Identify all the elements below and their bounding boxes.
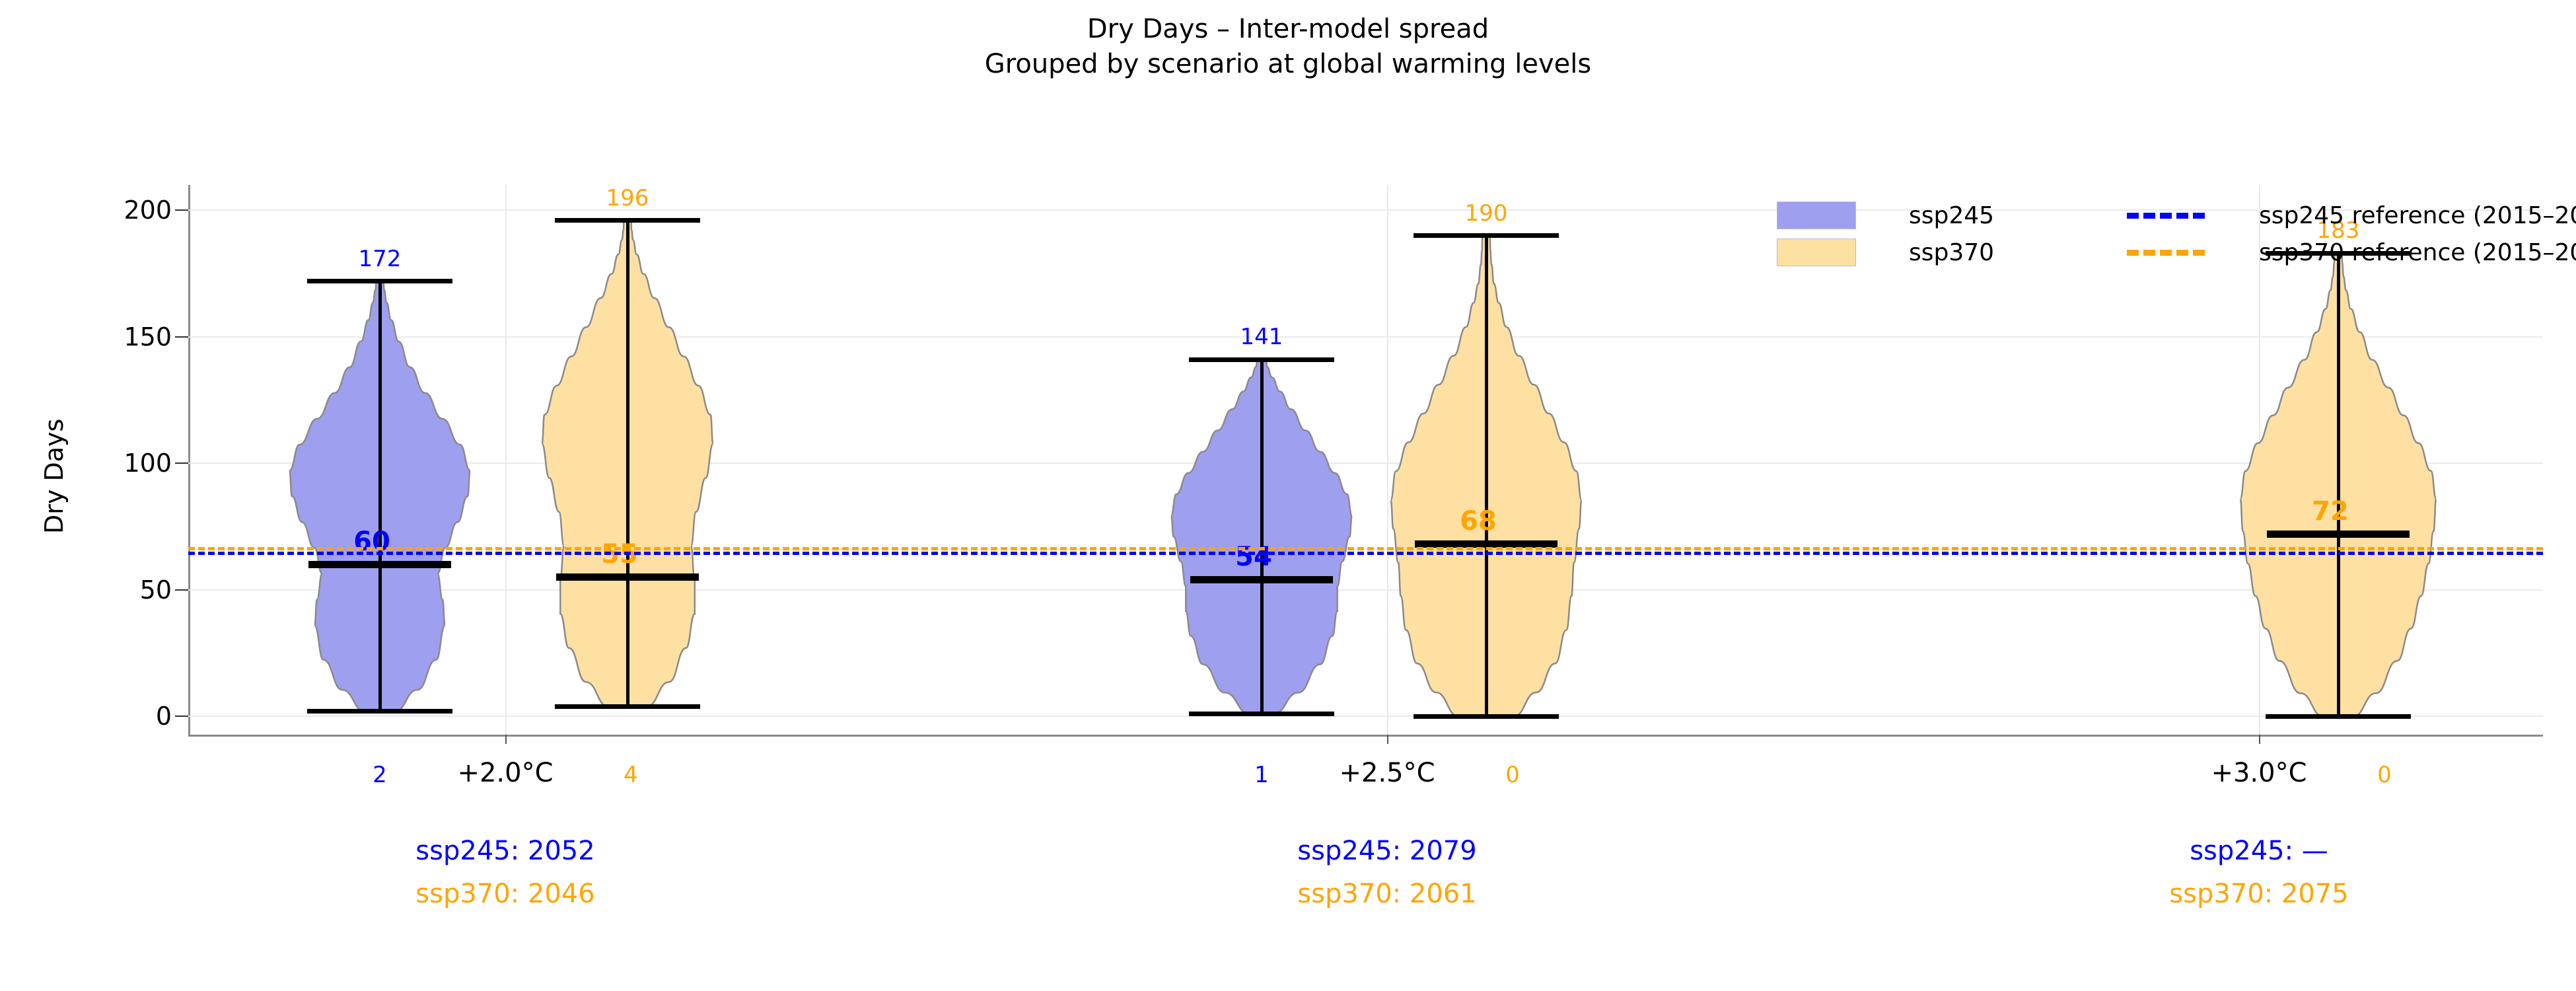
group-year-ssp370-2: ssp370: 2075	[2169, 879, 2348, 909]
y-tick-mark	[175, 336, 188, 338]
legend-label[interactable]: ssp245 reference (2015–2035)	[2259, 202, 2576, 229]
y-tick-mark	[175, 209, 188, 211]
violin-range-line	[2337, 253, 2340, 716]
violin-median-label: 72	[2312, 496, 2349, 527]
violin-min-label-ssp245-0: 2	[373, 762, 387, 788]
x-group-label-0: +2.0°C	[457, 758, 553, 788]
y-tick-label: 200	[40, 196, 172, 225]
reference-line-ssp370	[188, 547, 2543, 550]
legend-dash-ssp370	[2127, 250, 2205, 256]
y-tick-label: 50	[40, 575, 172, 605]
group-year-ssp245-1: ssp245: 2079	[1297, 836, 1476, 866]
y-tick-mark	[175, 462, 188, 464]
x-group-label-2: +3.0°C	[2211, 758, 2307, 788]
x-tick-mark	[505, 735, 507, 744]
group-year-ssp245-2: ssp245: —	[2190, 836, 2328, 866]
x-tick-mark	[1387, 735, 1388, 744]
violin-min-label-ssp370-0: 4	[624, 762, 638, 788]
violin-min-cap	[2266, 714, 2411, 719]
y-tick-mark	[175, 716, 188, 717]
legend-label[interactable]: ssp245	[1909, 202, 2127, 229]
y-tick-label: 0	[40, 702, 172, 731]
group-year-ssp370-1: ssp370: 2061	[1297, 879, 1476, 909]
violin-min-label-ssp370-1: 0	[1505, 762, 1520, 788]
violin-min-label-ssp370-2: 0	[2377, 762, 2392, 788]
chart-title: Dry Days – Inter-model spread Grouped by…	[0, 12, 2576, 82]
y-tick-mark	[175, 589, 188, 591]
violin-min-label-ssp245-1: 1	[1254, 762, 1269, 788]
x-tick-mark	[2259, 735, 2260, 744]
group-year-ssp370-0: ssp370: 2046	[415, 879, 594, 909]
reference-line-ssp245	[188, 552, 2543, 555]
group-year-ssp245-0: ssp245: 2052	[415, 836, 594, 866]
y-tick-label: 100	[40, 449, 172, 478]
legend: ssp245ssp245 reference (2015–2035)ssp370…	[1777, 197, 2556, 276]
y-tick-label: 150	[40, 322, 172, 351]
legend-label[interactable]: ssp370	[1909, 239, 2127, 266]
legend-dash-ssp245	[2127, 213, 2205, 219]
legend-swatch-ssp245	[1777, 202, 1856, 229]
violin-median-bar	[2267, 531, 2410, 538]
legend-label[interactable]: ssp370 reference (2015–2035)	[2259, 239, 2576, 266]
x-group-label-1: +2.5°C	[1339, 758, 1435, 788]
legend-swatch-ssp370	[1777, 239, 1856, 266]
chart-root: Dry Days – Inter-model spread Grouped by…	[0, 0, 2576, 991]
